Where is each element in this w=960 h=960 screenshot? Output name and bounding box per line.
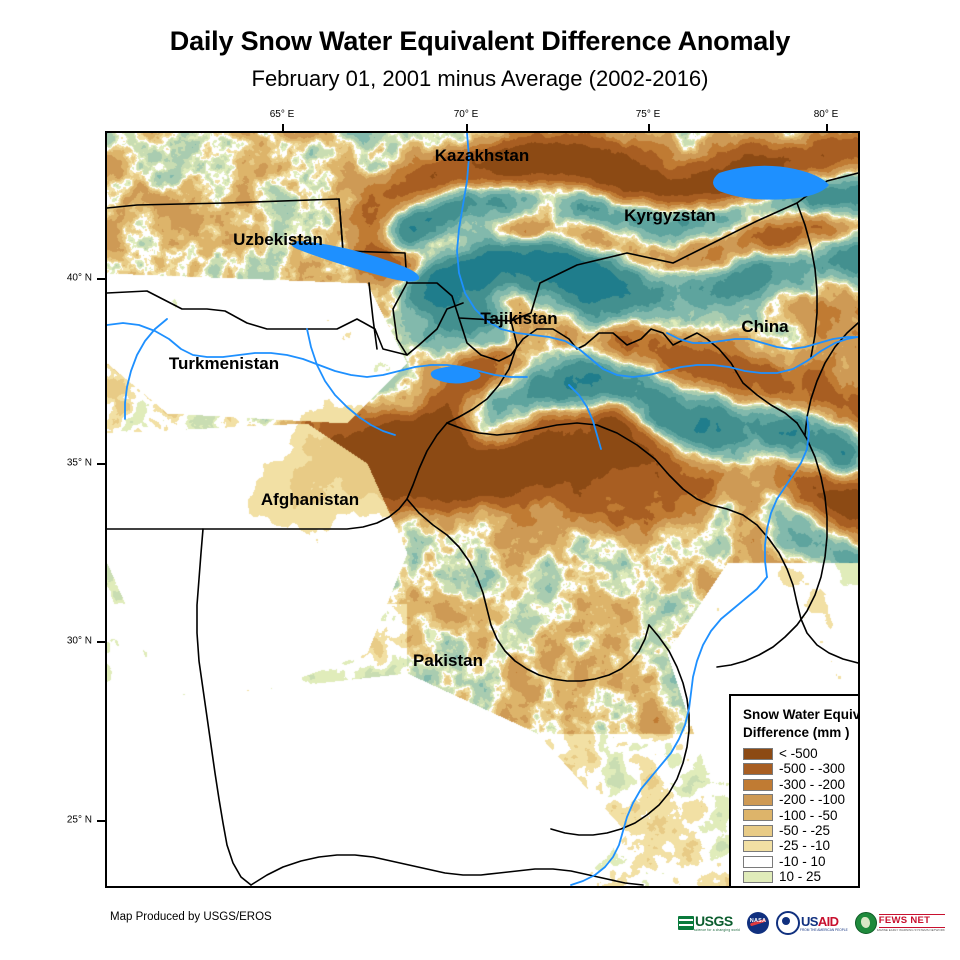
- usaid-seal-icon: [776, 911, 800, 935]
- legend-box: Snow Water Equivalent Difference (mm ) <…: [729, 694, 860, 888]
- usaid-logo: USAID FROM THE AMERICAN PEOPLE: [776, 910, 848, 936]
- legend-row: -500 - -300: [743, 761, 860, 776]
- country-border-2: [393, 283, 407, 355]
- legend-swatch-8: [743, 871, 773, 883]
- legend-row: -10 - 10: [743, 854, 860, 869]
- lat-tick-label-1: 35° N: [44, 458, 92, 469]
- river-4: [765, 417, 809, 577]
- usaid-logo-text: USAID: [801, 915, 848, 928]
- legend-swatch-1: [743, 763, 773, 775]
- legend-label-4: -100 - -50: [779, 809, 838, 823]
- lat-tick-3: [97, 820, 105, 822]
- fewsnet-globe-icon: [855, 912, 877, 934]
- country-label-china: China: [741, 317, 788, 337]
- legend-label-6: -25 - -10: [779, 839, 830, 853]
- legend-row: -300 - -200: [743, 777, 860, 792]
- nasa-logo-text: NASA: [747, 918, 769, 924]
- legend-label-9: 25 - 50: [779, 886, 821, 888]
- page-subtitle: February 01, 2001 minus Average (2002-20…: [0, 66, 960, 92]
- usgs-logo-text: USGS: [695, 914, 740, 928]
- fewsnet-logo: FEWS NET FAMINE EARLY WARNING SYSTEMS NE…: [855, 910, 945, 936]
- legend-label-7: -10 - 10: [779, 855, 826, 869]
- lon-tick-label-0: 65° E: [270, 109, 295, 120]
- legend-swatch-4: [743, 809, 773, 821]
- lat-tick-label-3: 25° N: [44, 815, 92, 826]
- map-canvas[interactable]: KazakhstanUzbekistanKyrgyzstanTajikistan…: [105, 131, 860, 888]
- legend-row: 25 - 50: [743, 885, 860, 888]
- lat-tick-2: [97, 641, 105, 643]
- country-label-kyrgyzstan: Kyrgyzstan: [624, 206, 716, 226]
- country-border-7: [447, 423, 858, 663]
- country-label-pakistan: Pakistan: [413, 651, 483, 671]
- legend-label-8: 10 - 25: [779, 870, 821, 884]
- legend-label-5: -50 - -25: [779, 824, 830, 838]
- country-border-13: [717, 423, 827, 667]
- legend-row: -25 - -10: [743, 838, 860, 853]
- river-0: [457, 133, 858, 377]
- nasa-logo: NASA: [747, 910, 769, 936]
- lat-tick-label-0: 40° N: [44, 273, 92, 284]
- fewsnet-logo-tagline: FAMINE EARLY WARNING SYSTEMS NETWORK: [877, 928, 945, 932]
- river-2: [569, 385, 601, 449]
- usgs-mark-icon: [678, 916, 694, 930]
- lat-tick-1: [97, 463, 105, 465]
- legend-swatch-7: [743, 856, 773, 868]
- lon-tick-label-3: 80° E: [814, 109, 839, 120]
- usgs-logo-tagline: science for a changing world: [694, 928, 740, 932]
- legend-row: -200 - -100: [743, 792, 860, 807]
- legend-title-line2: Difference (mm ): [743, 724, 860, 742]
- legend-label-0: < -500: [779, 747, 818, 761]
- legend-label-1: -500 - -300: [779, 762, 845, 776]
- lake-issyk-kul: [713, 166, 829, 200]
- legend-row: -100 - -50: [743, 808, 860, 823]
- legend-label-2: -300 - -200: [779, 778, 845, 792]
- lon-tick-label-2: 75° E: [636, 109, 661, 120]
- legend-row: -50 - -25: [743, 823, 860, 838]
- legend-title-line1: Snow Water Equivalent: [743, 706, 860, 724]
- nasa-meatball-icon: NASA: [747, 912, 769, 934]
- legend-title: Snow Water Equivalent Difference (mm ): [743, 706, 860, 741]
- legend-swatch-5: [743, 825, 773, 837]
- country-label-kazakhstan: Kazakhstan: [435, 146, 529, 166]
- map-credit: Map Produced by USGS/EROS: [110, 911, 272, 923]
- country-border-4: [369, 283, 377, 349]
- legend-row: 10 - 25: [743, 869, 860, 884]
- country-label-afghanistan: Afghanistan: [261, 490, 359, 510]
- usgs-logo: USGS science for a changing world: [678, 910, 740, 936]
- legend-swatch-0: [743, 748, 773, 760]
- usaid-logo-tagline: FROM THE AMERICAN PEOPLE: [800, 928, 848, 932]
- country-label-turkmenistan: Turkmenistan: [169, 354, 279, 374]
- country-border-12: [551, 625, 689, 835]
- country-border-5: [339, 199, 343, 251]
- legend-swatch-3: [743, 794, 773, 806]
- legend-swatch-6: [743, 840, 773, 852]
- page-title: Daily Snow Water Equivalent Difference A…: [0, 26, 960, 57]
- legend-row: < -500: [743, 746, 860, 761]
- legend-swatch-2: [743, 779, 773, 791]
- country-label-tajikistan: Tajikistan: [480, 309, 557, 329]
- lat-tick-label-2: 30° N: [44, 636, 92, 647]
- agency-logos: USGS science for a changing world NASA U…: [678, 908, 945, 938]
- legend-swatch-9: [743, 886, 773, 888]
- country-label-uzbekistan: Uzbekistan: [233, 230, 323, 250]
- country-border-10: [197, 529, 251, 885]
- fewsnet-logo-text: FEWS NET: [879, 914, 945, 928]
- country-border-1: [107, 291, 463, 355]
- lon-tick-label-1: 70° E: [454, 109, 479, 120]
- country-border-15: [797, 203, 817, 357]
- lat-tick-0: [97, 278, 105, 280]
- legend-label-3: -200 - -100: [779, 793, 845, 807]
- legend-class-list: < -500-500 - -300-300 - -200-200 - -100-…: [743, 746, 860, 888]
- map-page: Daily Snow Water Equivalent Difference A…: [0, 0, 960, 960]
- country-border-8: [107, 423, 447, 529]
